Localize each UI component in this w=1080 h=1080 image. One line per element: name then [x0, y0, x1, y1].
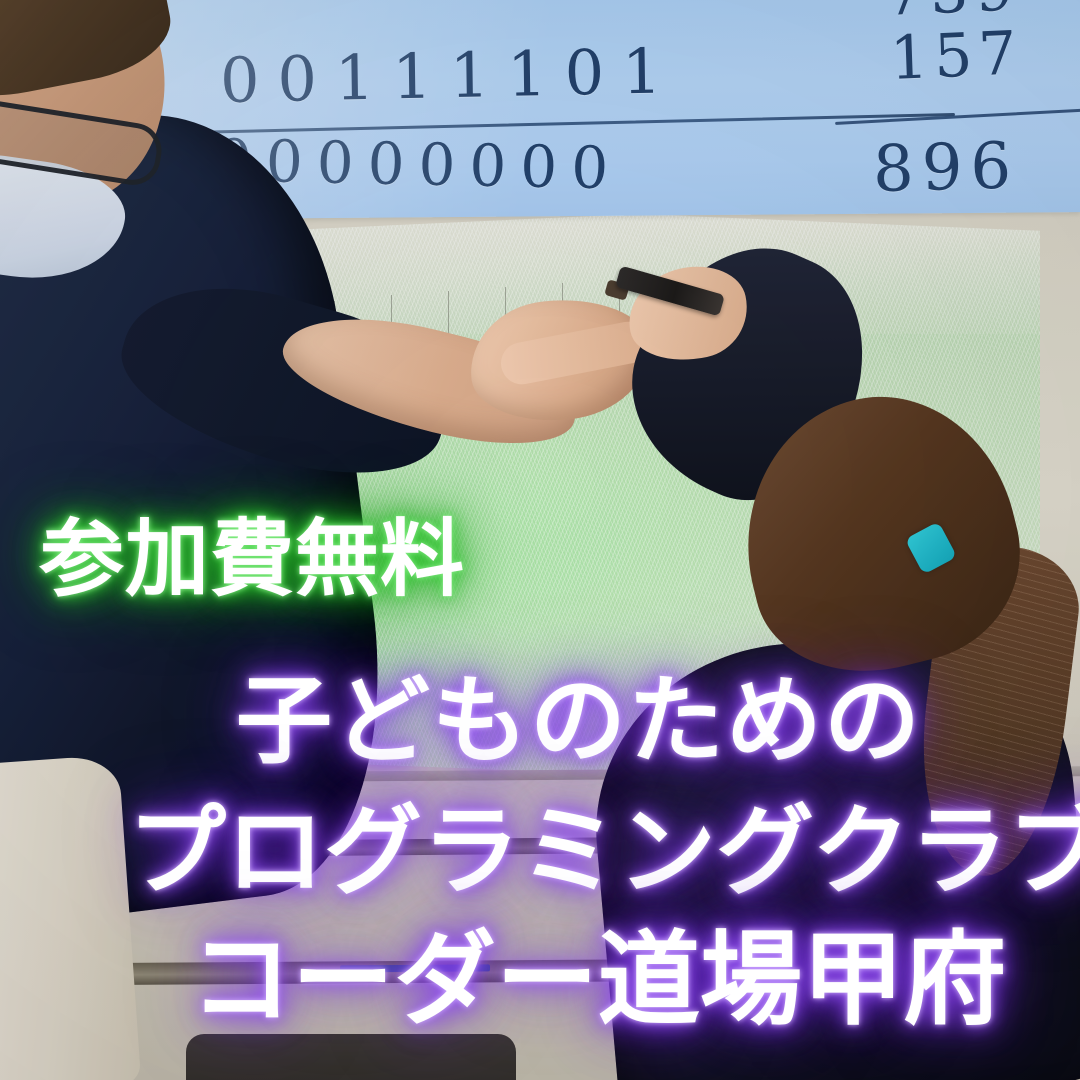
title-line-2: プログラミングクラブ [128, 803, 1080, 901]
chair-back [186, 1034, 516, 1080]
poster-canvas: 00111101 00000000 739 157 896 参加費無料 子どもの… [0, 0, 1080, 1080]
diagram-stem [448, 291, 449, 339]
title-line-1: 子どものための [236, 673, 922, 769]
title-line-3: コーダー道場甲府 [190, 930, 1006, 1032]
decimal-middle: 157 [889, 18, 1024, 94]
mentor-trousers [0, 754, 141, 1080]
free-participation-badge: 参加費無料 [40, 517, 465, 601]
decimal-bottom: 896 [872, 129, 1019, 207]
binary-row-1: 00111101 [220, 34, 681, 117]
